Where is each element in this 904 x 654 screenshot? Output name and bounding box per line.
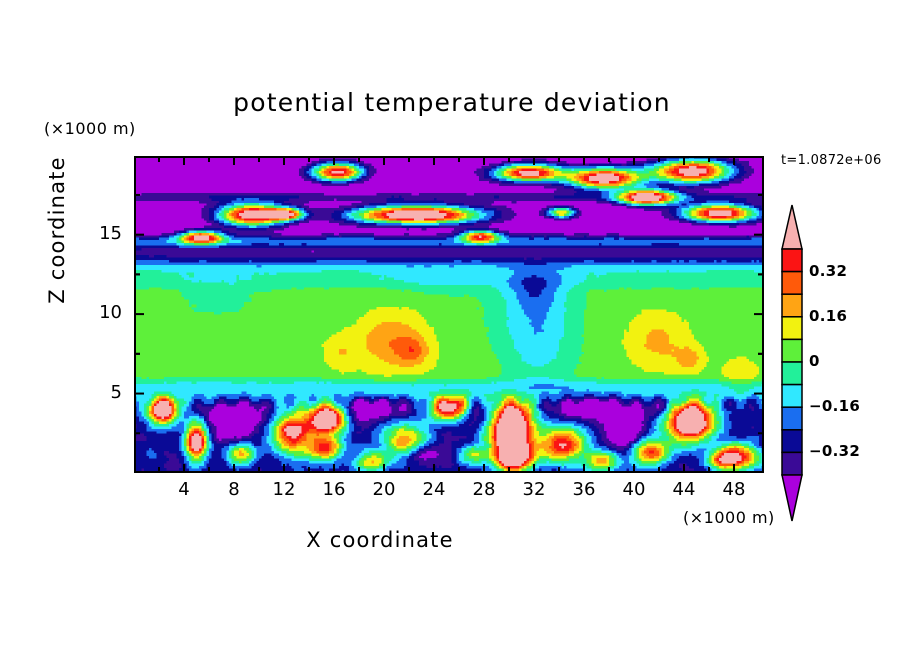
x-tick-label: 48 (714, 479, 754, 500)
colorbar-swatches (779, 203, 805, 525)
x-axis-title: X coordinate (0, 528, 760, 552)
x-tick-label: 8 (214, 479, 254, 500)
x-axis-unit-label: (×1000 m) (683, 508, 775, 527)
x-tick-label: 28 (464, 479, 504, 500)
colorbar-tick-label: 0 (809, 352, 820, 370)
x-tick-label: 32 (514, 479, 554, 500)
colorbar-tick-label: −0.16 (809, 397, 860, 415)
colorbar-tick-label: 0.16 (809, 307, 847, 325)
contour-plot-area (134, 156, 764, 473)
colorbar-tick-label: 0.32 (809, 262, 847, 280)
colorbar-tick-label: −0.32 (809, 442, 860, 460)
y-axis-title: Z coordinate (45, 130, 69, 330)
x-tick-label: 12 (264, 479, 304, 500)
x-tick-label: 20 (364, 479, 404, 500)
y-tick-label: 15 (82, 223, 122, 244)
x-tick-label: 40 (614, 479, 654, 500)
figure-canvas: potential temperature deviation (×1000 m… (0, 0, 904, 654)
x-tick-label: 44 (664, 479, 704, 500)
colorbar (779, 203, 805, 529)
page-title: potential temperature deviation (0, 88, 904, 117)
x-tick-label: 4 (164, 479, 204, 500)
contour-field (134, 156, 764, 473)
timestamp-label: t=1.0872e+06 (781, 153, 882, 168)
y-tick-label: 5 (82, 382, 122, 403)
x-tick-label: 36 (564, 479, 604, 500)
x-tick-label: 24 (414, 479, 454, 500)
y-tick-label: 10 (82, 302, 122, 323)
x-tick-label: 16 (314, 479, 354, 500)
